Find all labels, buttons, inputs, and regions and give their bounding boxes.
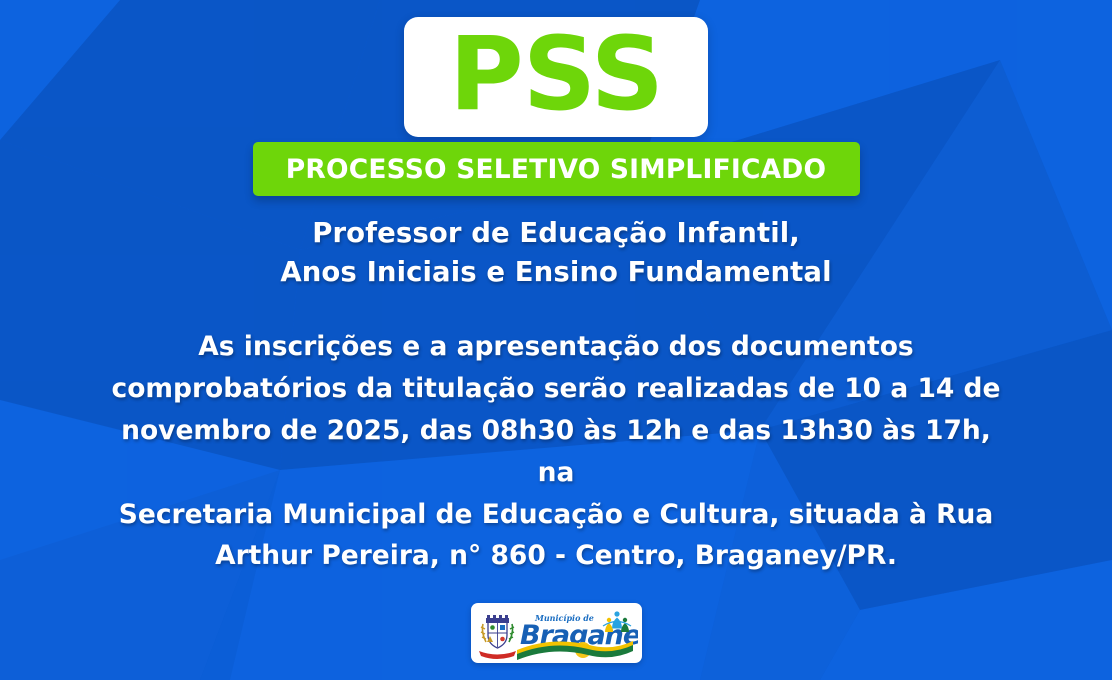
position-subtitle-line-1: Professor de Educação Infantil, bbox=[280, 214, 831, 253]
announcement-body-line-2: comprobatórios da titulação serão realiz… bbox=[106, 368, 1006, 410]
announcement-body-line-3: novembro de 2025, das 08h30 às 12h e das… bbox=[106, 410, 1006, 494]
braganey-municipal-logo: Município de Braganey bbox=[475, 606, 638, 660]
announcement-body-line-5: Arthur Pereira, n° 860 - Centro, Bragane… bbox=[106, 535, 1006, 577]
poster-canvas: PSS PROCESSO SELETIVO SIMPLIFICADO Profe… bbox=[0, 0, 1112, 680]
pss-acronym-plate: PSS bbox=[404, 17, 708, 137]
announcement-body-line-4: Secretaria Municipal de Educação e Cultu… bbox=[106, 494, 1006, 536]
pss-acronym-text: PSS bbox=[449, 24, 663, 126]
announcement-body: As inscrições e a apresentação dos docum… bbox=[106, 326, 1006, 577]
municipal-logo-plate: Município de Braganey bbox=[471, 603, 642, 663]
position-subtitle: Professor de Educação Infantil, Anos Ini… bbox=[280, 214, 831, 292]
coat-of-arms-icon bbox=[479, 615, 516, 659]
process-ribbon-banner: PROCESSO SELETIVO SIMPLIFICADO bbox=[253, 142, 860, 196]
position-subtitle-line-2: Anos Iniciais e Ensino Fundamental bbox=[280, 253, 831, 292]
poster-content: PSS PROCESSO SELETIVO SIMPLIFICADO Profe… bbox=[0, 0, 1112, 680]
announcement-body-line-1: As inscrições e a apresentação dos docum… bbox=[106, 326, 1006, 368]
process-ribbon-label: PROCESSO SELETIVO SIMPLIFICADO bbox=[286, 154, 826, 185]
